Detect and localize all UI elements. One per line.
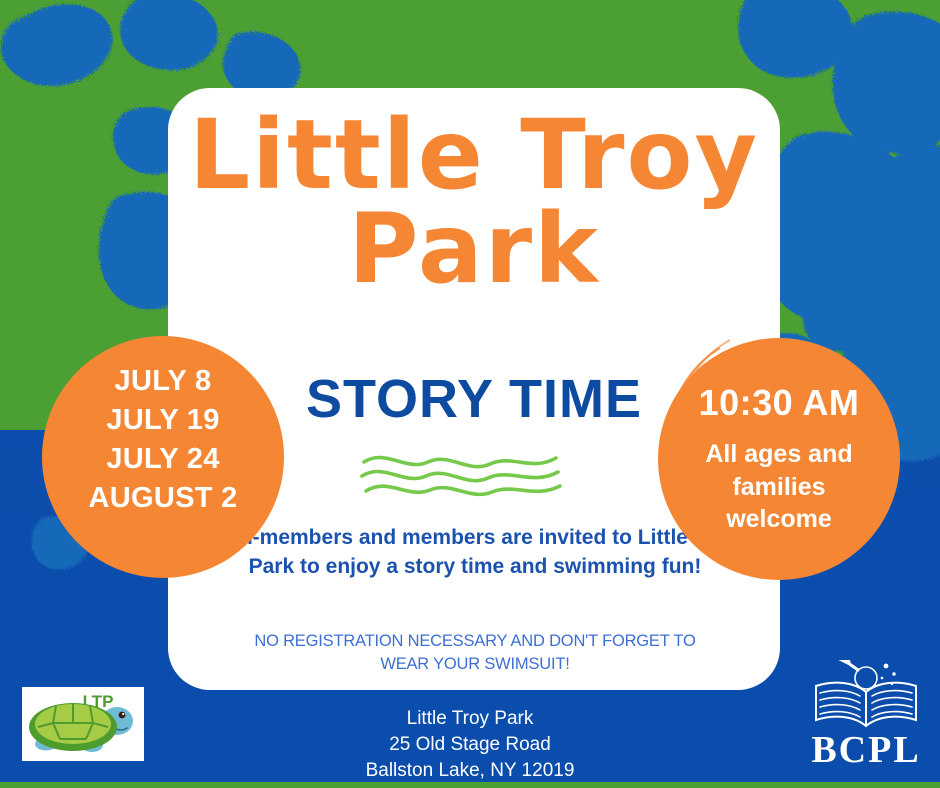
wave-divider-icon	[360, 448, 580, 500]
date-item: JULY 19	[42, 401, 284, 440]
date-item: JULY 24	[42, 440, 284, 479]
ltp-logo: LTP	[19, 684, 147, 764]
time-badge: 10:30 AM All ages and families welcome	[658, 338, 900, 580]
audience-line: families	[658, 471, 900, 504]
turtle-icon	[29, 703, 133, 752]
dates-badge: JULY 8 JULY 19 JULY 24 AUGUST 2	[42, 336, 284, 578]
poster: Little Troy Park STORY TIME Non-members …	[0, 0, 940, 788]
address-line-2: 25 Old Stage Road	[270, 732, 670, 758]
bcpl-logo-text: BCPL	[800, 728, 932, 772]
date-item: JULY 8	[42, 362, 284, 401]
title-line-2: Park	[168, 202, 780, 296]
page-title: Little Troy Park	[168, 108, 780, 296]
date-item: AUGUST 2	[42, 479, 284, 518]
address-line-3: Ballston Lake, NY 12019	[270, 758, 670, 784]
audience-line: All ages and	[658, 438, 900, 471]
bottom-accent-strip	[0, 782, 940, 788]
event-time: 10:30 AM	[658, 382, 900, 424]
audience-line: welcome	[658, 503, 900, 536]
address-line-1: Little Troy Park	[270, 706, 670, 732]
magnifier-icon	[840, 660, 877, 689]
registration-note: NO REGISTRATION NECESSARY AND DON'T FORG…	[230, 630, 720, 677]
address-block: Little Troy Park 25 Old Stage Road Balls…	[270, 706, 670, 783]
